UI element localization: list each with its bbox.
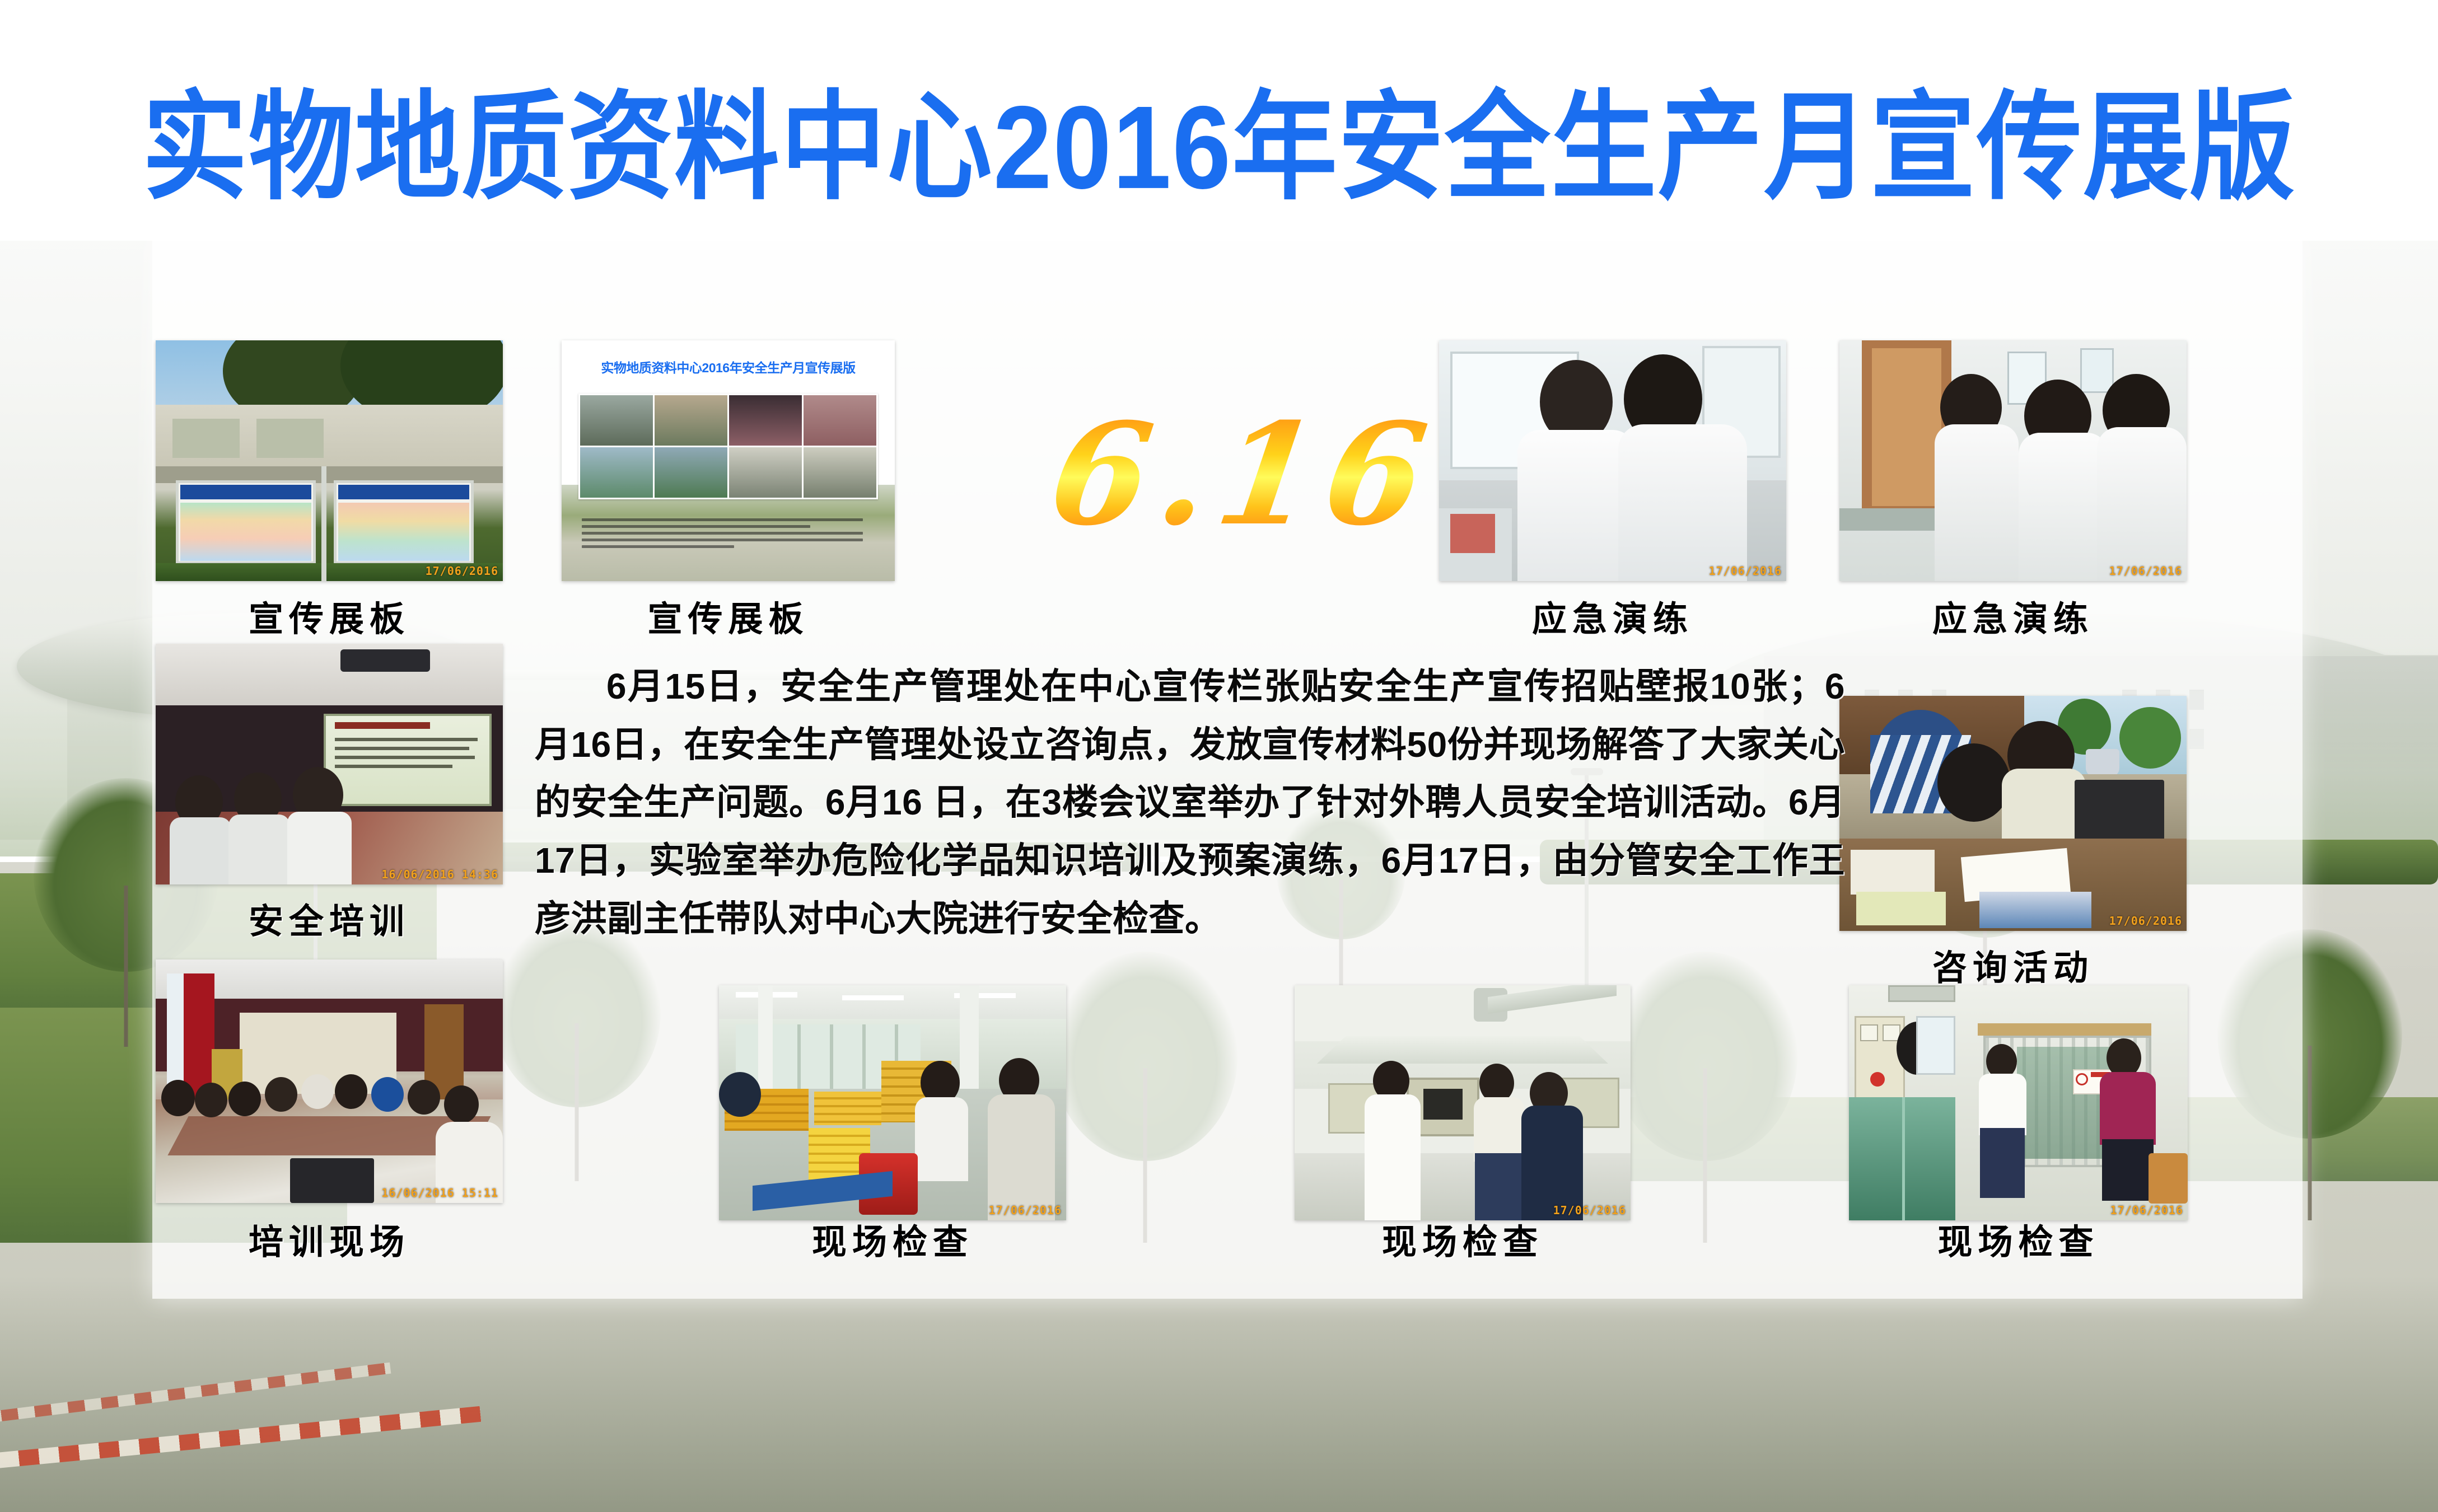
mini-poster-text-lines (582, 518, 875, 576)
photo-consult[interactable]: 17/06/2016 (1839, 696, 2187, 931)
photo-drill-1[interactable]: 17/06/2016 (1439, 340, 1786, 581)
photo-board-2[interactable]: 实物地质资料中心2016年安全生产月宣传展版 (562, 340, 895, 581)
caption-site-2: 现场检查 (719, 1214, 1066, 1264)
photo-timestamp: 16/06/2016 15:11 (381, 1186, 498, 1200)
safety-day-date-graphic: 6.16 (1041, 392, 1445, 556)
photo-drill-1-scene (1439, 340, 1786, 581)
photo-site-4-scene (1849, 985, 2188, 1220)
photo-timestamp: 16/06/2016 14:36 (381, 868, 498, 881)
caption-drill-1: 应急演练 (1439, 591, 1786, 641)
photo-board-1-scene (156, 340, 503, 581)
photo-training-scene (156, 644, 503, 884)
photo-timestamp: 17/06/2016 (426, 564, 498, 578)
photo-site-1-scene (156, 959, 503, 1203)
photo-timestamp: 17/06/2016 (2109, 564, 2182, 578)
plaza-shadow (0, 1276, 2438, 1512)
photo-board-2-scene: 实物地质资料中心2016年安全生产月宣传展版 (562, 340, 895, 581)
mini-poster-title: 实物地质资料中心2016年安全生产月宣传展版 (562, 357, 895, 376)
photo-board-1[interactable]: 17/06/2016 (156, 340, 503, 581)
photo-timestamp: 17/06/2016 (1709, 564, 1782, 578)
body-paragraph: 6月15日，安全生产管理处在中心宣传栏张贴安全生产宣传招贴壁报10张；6月16日… (535, 658, 1845, 948)
photo-site-2[interactable]: 17/06/2016 (719, 985, 1066, 1220)
photo-site-3[interactable]: 17/06/2016 (1295, 985, 1631, 1220)
photo-consult-scene (1839, 696, 2187, 931)
caption-drill-2: 应急演练 (1839, 591, 2187, 641)
mini-poster-photo-grid (578, 394, 879, 499)
photo-training[interactable]: 16/06/2016 14:36 (156, 644, 503, 884)
photo-site-3-scene (1295, 985, 1631, 1220)
photo-timestamp: 17/06/2016 (2109, 914, 2182, 928)
caption-site-1: 培训现场 (156, 1214, 503, 1264)
caption-board-2: 宣传展板 (562, 591, 895, 641)
photo-drill-2[interactable]: 17/06/2016 (1839, 340, 2187, 581)
caption-site-3: 现场检查 (1295, 1214, 1631, 1264)
photo-drill-2-scene (1839, 340, 2187, 581)
photo-site-1[interactable]: 16/06/2016 15:11 (156, 959, 503, 1203)
photo-site-4[interactable]: 17/06/2016 (1849, 985, 2188, 1220)
page-title: 实物地质资料中心2016年安全生产月宣传展版 (0, 84, 2438, 211)
caption-board-1: 宣传展板 (156, 591, 503, 641)
photo-site-2-scene (719, 985, 1066, 1220)
caption-training: 安全培训 (156, 893, 503, 943)
caption-consult: 咨询活动 (1839, 939, 2187, 990)
caption-site-4: 现场检查 (1849, 1214, 2188, 1264)
